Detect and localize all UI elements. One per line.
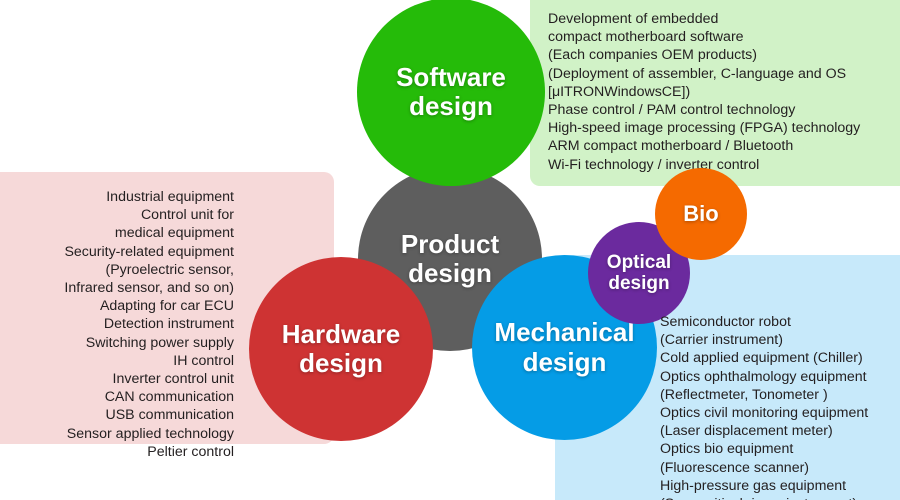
hardware-callout-text: Industrial equipment Control unit for me… (10, 188, 234, 461)
mechanical-callout-text: Semiconductor robot (Carrier instrument)… (660, 313, 868, 500)
circle-bio-label: Bio (679, 202, 722, 227)
circle-mechanical-design-label: Mechanical design (472, 318, 657, 376)
circle-bio[interactable]: Bio (655, 168, 747, 260)
circle-software-design[interactable]: Software design (357, 0, 545, 186)
circle-software-design-label: Software design (357, 63, 545, 121)
circle-optical-design-label: Optical design (588, 252, 690, 295)
software-callout-text: Development of embedded compact motherbo… (548, 10, 860, 174)
diagram-canvas: Product design Software design Hardware … (0, 0, 900, 500)
circle-hardware-design-label: Hardware design (249, 320, 433, 378)
circle-hardware-design[interactable]: Hardware design (249, 257, 433, 441)
